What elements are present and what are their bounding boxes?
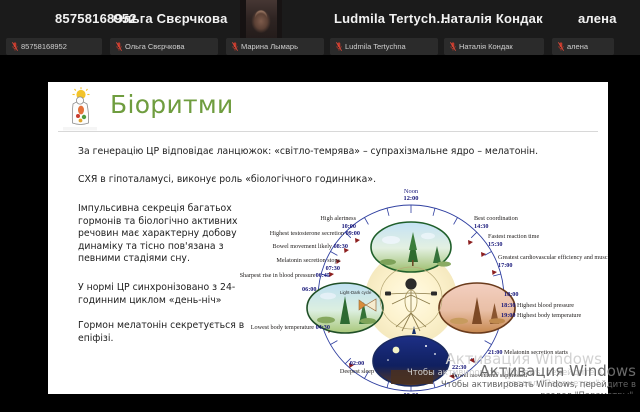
participants-strip: 85758168952 Ольга Свєрчкова Ludmila Tert… [0,0,640,55]
clock-event-left-5: 06:00 [302,286,316,293]
clock-event-left-4: Sharpest rise in blood pressure06:45 [228,272,330,280]
clock-event-left-3: Melatonin secretion stops07:30 [222,257,340,272]
clock-event-left-1: Highest testosterone secretion 09:00 [202,230,360,238]
clock-event-right-0: Best coordination14:30 [474,215,604,230]
shared-screen-slide[interactable]: Біоритми За генерацію ЦР відповідає ланц… [48,82,608,394]
clock-event-left-0: High alertness10:00 [234,215,356,230]
clock-event-left-6: Lowest body temperature 04:30 [214,324,330,332]
participant-tile-label: Ludmila Tertychna [345,42,406,51]
light-dark-cycle-label: Light-Dark cycle [340,290,371,295]
participant-tile-0[interactable]: 85758168952 [6,38,102,55]
participant-tile-4[interactable]: Наталія Кондак [444,38,544,55]
featured-name-4: алена [578,11,617,26]
participant-tile-5[interactable]: алена [552,38,614,55]
slide-paragraph-1: СХЯ в гіпоталамусі, виконує роль «біолог… [78,174,376,186]
featured-name-3: Наталія Кондак [441,11,543,26]
featured-name-1: Ольга Свєрчкова [113,11,228,26]
presentation-logo-icon [58,86,102,132]
participant-tile-label: Наталія Кондак [459,42,513,51]
participant-tile-label: 85758168952 [21,42,67,51]
circadian-clock-diagram: Light-Dark cycle Noon 12:00 00:00 Midnig… [216,200,606,394]
clock-event-right-1: Fastest reaction time15:30 [488,233,608,248]
participant-tile-label: Марина Лымарь [241,42,298,51]
microphone-muted-icon [12,42,18,51]
slide-title: Біоритми [110,90,234,119]
microphone-muted-icon [558,42,564,51]
clock-event-right-7: 22:30Bowel movements suppressed [452,364,582,379]
participant-tile-label: Ольга Свєрчкова [125,42,185,51]
featured-name-2: Ludmila Tertych... [334,11,448,26]
participant-video-tile[interactable] [240,0,282,38]
clock-event-left-7: 02:00Deepest sleep [322,360,392,375]
microphone-muted-icon [336,42,342,51]
participant-tile-3[interactable]: Ludmila Tertychna [330,38,438,55]
participant-video-image [240,0,282,38]
zoom-meeting-screen: 85758168952 Ольга Свєрчкова Ludmila Tert… [0,0,640,412]
clock-noon-label: Noon 12:00 [382,188,440,203]
clock-event-right-3: 18:00 [504,291,518,298]
microphone-muted-icon [116,42,122,51]
video-letterbox-right [277,0,282,38]
featured-names-row: 85758168952 Ольга Свєрчкова Ludmila Tert… [0,0,640,38]
participant-tile-label: алена [567,42,588,51]
bottom-letterbox [0,394,640,412]
microphone-muted-icon [450,42,456,51]
title-divider [58,131,598,132]
clock-event-right-6: 21:00 Melatonin secretion starts [488,349,608,357]
microphone-muted-icon [232,42,238,51]
participant-tile-2[interactable]: Марина Лымарь [226,38,324,55]
clock-event-left-2: Bowel movement likely 08:30 [212,243,348,251]
participant-tiles-row: 85758168952 Ольга Свєрчкова Ма [0,38,640,55]
participant-tile-1[interactable]: Ольга Свєрчкова [110,38,218,55]
clock-event-right-4: 18:30 Highest blood pressure [501,302,608,310]
slide-paragraph-0: За генерацію ЦР відповідає ланцюжок: «св… [78,146,538,158]
clock-event-right-2: Greatest cardiovascular efficiency and m… [498,254,608,269]
clock-event-right-5: 19:00 Highest body temperature [501,312,608,320]
video-letterbox-left [240,0,246,38]
